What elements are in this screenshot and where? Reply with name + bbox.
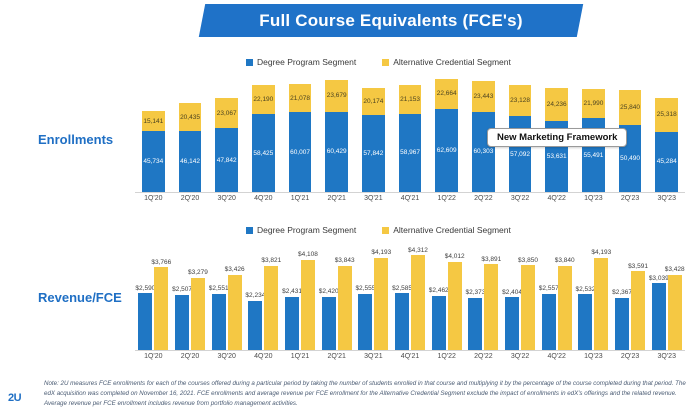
bar-alternative-credential[interactable]: $4,193 xyxy=(594,258,608,350)
plot-area-revenue: $2,590$3,766$2,507$3,279$2,551$3,426$2,2… xyxy=(135,240,685,350)
bar-value-label: 20,435 xyxy=(180,114,200,121)
bar-group[interactable]: $2,590$3,766 xyxy=(135,240,172,350)
legend-label-alternative-credential-revenue: Alternative Credential Segment xyxy=(393,225,511,235)
x-tick-label: 1Q'20 xyxy=(135,195,172,202)
bar-degree-program[interactable]: $2,367 xyxy=(615,298,629,350)
bar-alternative-credential[interactable]: $3,591 xyxy=(631,271,645,350)
legend-swatch-gold-icon xyxy=(382,227,389,234)
x-tick-label: 4Q'20 xyxy=(245,195,282,202)
legend-revenue: Degree Program Segment Alternative Crede… xyxy=(246,225,511,235)
bar-value-label: 58,967 xyxy=(400,149,420,156)
bar-segment-alternative-credential[interactable]: 21,153 xyxy=(399,85,422,113)
bar-value-label: $2,585 xyxy=(392,285,412,292)
x-tick-label: 2Q'21 xyxy=(318,195,355,202)
bar-segment-alternative-credential[interactable]: 23,443 xyxy=(472,81,495,112)
bar-value-label: 60,303 xyxy=(473,148,493,155)
legend-item-degree-program: Degree Program Segment xyxy=(246,57,356,67)
bar-value-label: $2,431 xyxy=(282,288,302,295)
x-tick-label: 3Q'20 xyxy=(208,195,245,202)
bar-value-label: $4,193 xyxy=(591,249,611,256)
bar-group[interactable]: $2,507$3,279 xyxy=(172,240,209,350)
bar-value-label: $3,821 xyxy=(261,257,281,264)
bar-alternative-credential[interactable]: $3,840 xyxy=(558,266,572,350)
bar-group[interactable]: $3,039$3,428 xyxy=(648,240,685,350)
bar-value-label: $4,108 xyxy=(298,251,318,258)
x-tick-label: 2Q'21 xyxy=(318,353,355,360)
bar-value-label: 22,664 xyxy=(437,90,457,97)
bar-value-label: 22,190 xyxy=(253,96,273,103)
bar-value-label: 25,318 xyxy=(657,111,677,118)
bar-value-label: $2,555 xyxy=(355,285,375,292)
bar-segment-degree-program[interactable]: 57,842 xyxy=(362,115,385,192)
bar-segment-alternative-credential[interactable]: 20,174 xyxy=(362,88,385,115)
bar-value-label: $2,367 xyxy=(612,289,632,296)
bar-group[interactable]: $2,532$4,193 xyxy=(575,240,612,350)
x-tick-label: 3Q'21 xyxy=(355,353,392,360)
x-tick-label: 3Q'23 xyxy=(648,195,685,202)
bar-value-label: $2,557 xyxy=(539,285,559,292)
bar-group[interactable]: $2,373$3,891 xyxy=(465,240,502,350)
bar-alternative-credential[interactable]: $3,843 xyxy=(338,266,352,351)
bar-value-label: $2,462 xyxy=(429,287,449,294)
legend-swatch-blue-icon xyxy=(246,59,253,66)
bar-alternative-credential[interactable]: $3,891 xyxy=(484,264,498,350)
bar-value-label: $2,373 xyxy=(465,289,485,296)
bar-value-label: 25,840 xyxy=(620,104,640,111)
x-tick-label: 2Q'20 xyxy=(172,195,209,202)
x-tick-label: 1Q'22 xyxy=(428,195,465,202)
x-tick-label: 4Q'20 xyxy=(245,353,282,360)
bar-segment-degree-program[interactable]: 60,303 xyxy=(472,112,495,192)
bar-segment-alternative-credential[interactable]: 24,236 xyxy=(545,88,568,120)
bar-group[interactable]: $2,585$4,312 xyxy=(392,240,429,350)
bar-degree-program[interactable]: $2,551 xyxy=(212,294,226,350)
legend-item-degree-program-revenue: Degree Program Segment xyxy=(246,225,356,235)
x-tick-label: 2Q'23 xyxy=(612,195,649,202)
bar-group[interactable]: 21,15358,967 xyxy=(392,74,429,192)
bar-value-label: $2,590 xyxy=(135,285,155,292)
bar-segment-degree-program[interactable]: 62,609 xyxy=(435,109,458,192)
bar-group[interactable]: $2,431$4,108 xyxy=(282,240,319,350)
bar-group[interactable]: 22,66462,609 xyxy=(428,74,465,192)
bar-group[interactable]: 23,67960,429 xyxy=(318,74,355,192)
bar-value-label: $4,312 xyxy=(408,247,428,254)
bar-segment-alternative-credential[interactable]: 25,840 xyxy=(619,90,642,124)
legend-label-degree-program-revenue: Degree Program Segment xyxy=(257,225,356,235)
bar-alternative-credential[interactable]: $3,821 xyxy=(264,266,278,350)
bar-segment-degree-program[interactable]: 47,842 xyxy=(215,128,238,192)
legend-enrollments: Degree Program Segment Alternative Crede… xyxy=(246,57,511,67)
bar-group[interactable]: 15,14145,734 xyxy=(135,74,172,192)
x-axis-line-revenue xyxy=(135,350,685,351)
bar-segment-degree-program[interactable]: 46,142 xyxy=(179,131,202,192)
bar-group[interactable]: 23,06747,842 xyxy=(208,74,245,192)
x-tick-label: 3Q'23 xyxy=(648,353,685,360)
bar-segment-alternative-credential[interactable]: 23,128 xyxy=(509,85,532,116)
x-tick-label: 1Q'23 xyxy=(575,195,612,202)
bar-degree-program[interactable]: $2,373 xyxy=(468,298,482,350)
bar-value-label: 23,679 xyxy=(327,92,347,99)
bar-segment-alternative-credential[interactable]: 21,990 xyxy=(582,89,605,118)
x-tick-label: 3Q'21 xyxy=(355,195,392,202)
bar-value-label: 58,425 xyxy=(253,150,273,157)
bar-value-label: $4,012 xyxy=(445,253,465,260)
bar-value-label: 46,142 xyxy=(180,158,200,165)
bar-group[interactable]: 20,17457,842 xyxy=(355,74,392,192)
bar-segment-degree-program[interactable]: 45,284 xyxy=(655,132,678,192)
bar-value-label: $3,426 xyxy=(225,266,245,273)
bar-alternative-credential[interactable]: $4,012 xyxy=(448,262,462,350)
bar-segment-alternative-credential[interactable]: 20,435 xyxy=(179,103,202,130)
bar-alternative-credential[interactable]: $3,766 xyxy=(154,267,168,350)
bar-segment-alternative-credential[interactable]: 23,679 xyxy=(325,80,348,112)
x-axis-ticks-revenue: 1Q'202Q'203Q'204Q'201Q'212Q'213Q'214Q'21… xyxy=(135,353,685,360)
bar-value-label: 21,990 xyxy=(583,100,603,107)
bar-degree-program[interactable]: $2,585 xyxy=(395,293,409,350)
bar-group[interactable]: $2,404$3,850 xyxy=(502,240,539,350)
bar-value-label: 60,007 xyxy=(290,149,310,156)
bar-value-label: 20,174 xyxy=(363,98,383,105)
x-tick-label: 3Q'22 xyxy=(502,353,539,360)
bar-value-label: 23,067 xyxy=(217,110,237,117)
x-tick-label: 1Q'20 xyxy=(135,353,172,360)
x-tick-label: 2Q'23 xyxy=(612,353,649,360)
bar-value-label: $3,591 xyxy=(628,263,648,270)
bar-alternative-credential[interactable]: $3,428 xyxy=(668,275,682,350)
footnote: Note: 2U measures FCE enrollments for ea… xyxy=(44,379,689,409)
bar-alternative-credential[interactable]: $4,193 xyxy=(374,258,388,350)
bar-alternative-credential[interactable]: $3,279 xyxy=(191,278,205,350)
bar-degree-program[interactable]: $2,462 xyxy=(432,296,446,350)
page-title-banner: Full Course Equivalents (FCE's) xyxy=(199,4,583,37)
x-axis-line-enrollments xyxy=(135,192,685,193)
x-axis-ticks-enrollments: 1Q'202Q'203Q'204Q'201Q'212Q'213Q'214Q'21… xyxy=(135,195,685,202)
bar-value-label: 24,236 xyxy=(547,101,567,108)
x-tick-label: 3Q'20 xyxy=(208,353,245,360)
bar-value-label: $4,193 xyxy=(371,249,391,256)
bar-value-label: $3,428 xyxy=(665,266,685,273)
bar-segment-degree-program[interactable]: 45,734 xyxy=(142,131,165,192)
bar-group[interactable]: $2,234$3,821 xyxy=(245,240,282,350)
bar-segment-alternative-credential[interactable]: 25,318 xyxy=(655,98,678,132)
bar-segment-degree-program[interactable]: 60,429 xyxy=(325,112,348,192)
bar-value-label: 57,092 xyxy=(510,151,530,158)
bar-degree-program[interactable]: $2,404 xyxy=(505,297,519,350)
bar-value-label: 15,141 xyxy=(143,118,163,125)
x-tick-label: 2Q'22 xyxy=(465,353,502,360)
bar-alternative-credential[interactable]: $4,312 xyxy=(411,255,425,350)
legend-label-degree-program: Degree Program Segment xyxy=(257,57,356,67)
bar-segment-alternative-credential[interactable]: 21,078 xyxy=(289,84,312,112)
bar-alternative-credential[interactable]: $3,426 xyxy=(228,275,242,350)
bar-value-label: $3,279 xyxy=(188,269,208,276)
bar-value-label: $2,404 xyxy=(502,289,522,296)
bar-alternative-credential[interactable]: $4,108 xyxy=(301,260,315,350)
bar-segment-degree-program[interactable]: 58,967 xyxy=(399,114,422,192)
bar-segment-alternative-credential[interactable]: 22,664 xyxy=(435,79,458,109)
bar-group[interactable]: $2,367$3,591 xyxy=(612,240,649,350)
x-tick-label: 1Q'21 xyxy=(282,195,319,202)
legend-label-alternative-credential: Alternative Credential Segment xyxy=(393,57,511,67)
bar-segment-degree-program[interactable]: 58,425 xyxy=(252,114,275,192)
bar-value-label: 47,842 xyxy=(217,157,237,164)
bar-value-label: 23,128 xyxy=(510,97,530,104)
bar-value-label: 21,078 xyxy=(290,95,310,102)
bar-segment-degree-program[interactable]: 60,007 xyxy=(289,112,312,192)
bar-value-label: $3,840 xyxy=(555,257,575,264)
bar-degree-program[interactable]: $2,532 xyxy=(578,294,592,350)
bar-value-label: 45,284 xyxy=(657,158,677,165)
bar-degree-program[interactable]: $2,555 xyxy=(358,294,372,350)
bar-value-label: 55,491 xyxy=(583,152,603,159)
bar-degree-program[interactable]: $2,420 xyxy=(322,297,336,350)
bar-value-label: $3,850 xyxy=(518,257,538,264)
page-title: Full Course Equivalents (FCE's) xyxy=(202,4,580,37)
bar-value-label: 45,734 xyxy=(143,158,163,165)
bar-degree-program[interactable]: $2,557 xyxy=(542,294,556,350)
bar-value-label: 60,429 xyxy=(327,148,347,155)
legend-swatch-gold-icon xyxy=(382,59,389,66)
bar-degree-program[interactable]: $2,234 xyxy=(248,301,262,350)
bar-group[interactable]: 21,07860,007 xyxy=(282,74,319,192)
bar-value-label: 62,609 xyxy=(437,147,457,154)
annotation-new-marketing-framework: New Marketing Framework xyxy=(487,128,627,147)
x-tick-label: 4Q'21 xyxy=(392,195,429,202)
bar-value-label: 53,631 xyxy=(547,153,567,160)
bar-group[interactable]: $2,555$4,193 xyxy=(355,240,392,350)
bar-degree-program[interactable]: $3,039 xyxy=(652,283,666,350)
bar-value-label: $2,532 xyxy=(575,286,595,293)
axis-title-revenue-fce: Revenue/FCE xyxy=(38,290,122,305)
bar-segment-alternative-credential[interactable]: 23,067 xyxy=(215,98,238,129)
x-tick-label: 3Q'22 xyxy=(502,195,539,202)
bar-group[interactable]: 25,31845,284 xyxy=(648,74,685,192)
bar-value-label: $2,507 xyxy=(172,286,192,293)
x-tick-label: 4Q'22 xyxy=(538,195,575,202)
bar-value-label: 23,443 xyxy=(473,93,493,100)
x-tick-label: 2Q'20 xyxy=(172,353,209,360)
logo-2u: 2U xyxy=(8,392,21,404)
bar-degree-program[interactable]: $2,431 xyxy=(285,297,299,350)
bar-value-label: $2,234 xyxy=(245,292,265,299)
bar-value-label: 50,490 xyxy=(620,155,640,162)
bar-value-label: $2,551 xyxy=(209,285,229,292)
bar-value-label: $3,766 xyxy=(151,259,171,266)
bar-alternative-credential[interactable]: $3,850 xyxy=(521,265,535,350)
x-tick-label: 1Q'22 xyxy=(428,353,465,360)
bar-value-label: $3,039 xyxy=(649,275,669,282)
x-tick-label: 4Q'22 xyxy=(538,353,575,360)
legend-item-alternative-credential: Alternative Credential Segment xyxy=(382,57,511,67)
bar-group[interactable]: $2,462$4,012 xyxy=(428,240,465,350)
bar-value-label: $2,420 xyxy=(319,288,339,295)
bar-segment-alternative-credential[interactable]: 22,190 xyxy=(252,85,275,115)
bar-value-label: $3,891 xyxy=(481,256,501,263)
x-tick-label: 4Q'21 xyxy=(392,353,429,360)
x-tick-label: 1Q'23 xyxy=(575,353,612,360)
bar-group[interactable]: $2,557$3,840 xyxy=(538,240,575,350)
axis-title-enrollments: Enrollments xyxy=(38,132,113,147)
x-tick-label: 1Q'21 xyxy=(282,353,319,360)
bar-group[interactable]: 20,43546,142 xyxy=(172,74,209,192)
bar-segment-alternative-credential[interactable]: 15,141 xyxy=(142,111,165,131)
bar-value-label: 57,842 xyxy=(363,150,383,157)
bar-value-label: $3,843 xyxy=(335,257,355,264)
legend-swatch-blue-icon xyxy=(246,227,253,234)
bar-degree-program[interactable]: $2,590 xyxy=(138,293,152,350)
bar-degree-program[interactable]: $2,507 xyxy=(175,295,189,350)
bar-group[interactable]: 22,19058,425 xyxy=(245,74,282,192)
x-tick-label: 2Q'22 xyxy=(465,195,502,202)
chart-revenue-per-fce: $2,590$3,766$2,507$3,279$2,551$3,426$2,2… xyxy=(135,240,685,368)
bar-group[interactable]: $2,420$3,843 xyxy=(318,240,355,350)
bar-group[interactable]: $2,551$3,426 xyxy=(208,240,245,350)
bar-value-label: 21,153 xyxy=(400,96,420,103)
legend-item-alternative-credential-revenue: Alternative Credential Segment xyxy=(382,225,511,235)
